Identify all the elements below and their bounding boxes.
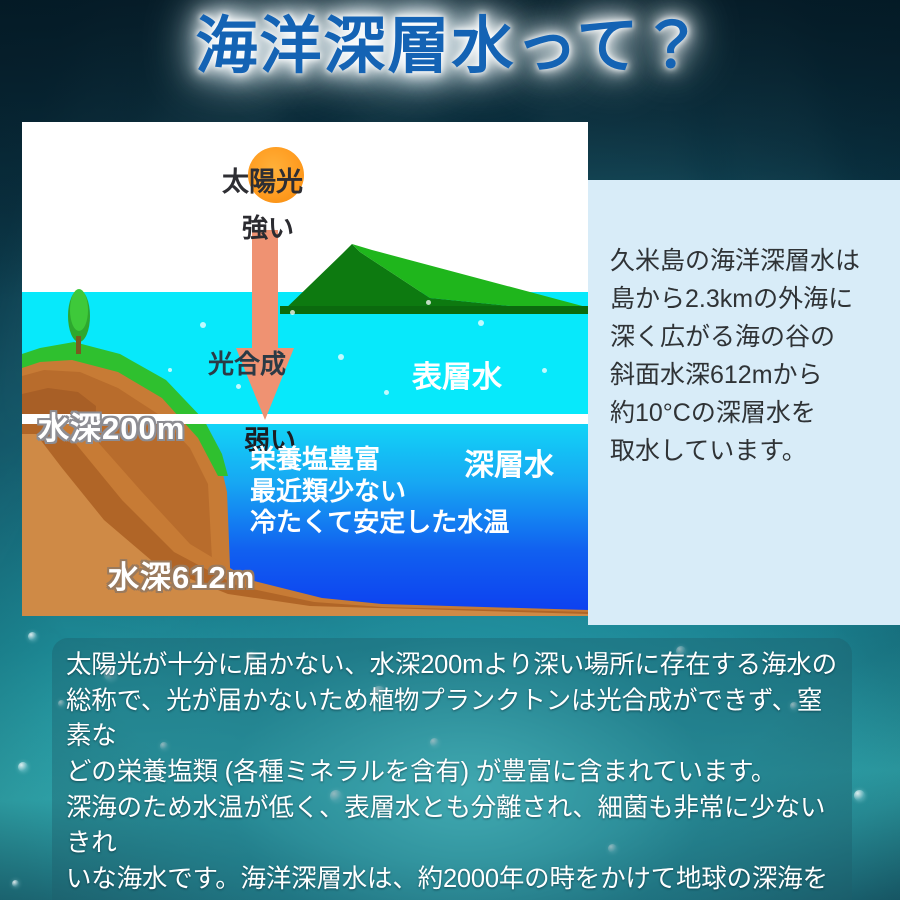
bottom-description-text: 太陽光が十分に届かない、水深200mより深い場所に存在する海水の 総称で、光が届… bbox=[66, 648, 838, 900]
deep-note-line: 最近類少ない bbox=[250, 476, 509, 508]
sun-label: 太陽光 bbox=[222, 160, 303, 199]
surface-water-label: 表層水 bbox=[412, 352, 502, 396]
side-info-panel: 久米島の海洋深層水は 島から2.3kmの外海に 深く広がる海の谷の 斜面水深61… bbox=[588, 180, 900, 625]
depth-200m-label: 水深200m bbox=[38, 403, 185, 448]
sunlight-arrow-icon bbox=[234, 230, 296, 420]
water-speck bbox=[384, 390, 389, 395]
bubble-icon bbox=[12, 880, 19, 887]
deep-note-line: 冷たくて安定した水温 bbox=[250, 507, 509, 539]
side-panel-text: 久米島の海洋深層水は 島から2.3kmの外海に 深く広がる海の谷の 斜面水深61… bbox=[610, 242, 860, 470]
strong-label: 強い bbox=[242, 208, 294, 245]
water-speck bbox=[478, 320, 484, 326]
bubble-icon bbox=[18, 762, 28, 772]
water-speck bbox=[426, 300, 431, 305]
depth-612m-label: 水深612m bbox=[108, 552, 255, 597]
deep-note-line: 栄養塩豊富 bbox=[250, 444, 509, 476]
page-title: 海洋深層水って？ bbox=[0, 14, 900, 79]
bubble-icon bbox=[28, 632, 37, 641]
water-speck bbox=[338, 354, 344, 360]
bubble-icon bbox=[854, 790, 865, 801]
deep-water-notes: 栄養塩豊富 最近類少ない 冷たくて安定した水温 bbox=[250, 444, 509, 539]
bottom-description-box: 太陽光が十分に届かない、水深200mより深い場所に存在する海水の 総称で、光が届… bbox=[52, 638, 852, 900]
infographic-poster: 海洋深層水って？ bbox=[0, 0, 900, 900]
photosynthesis-label: 光合成 bbox=[208, 344, 286, 381]
mountain-shape bbox=[280, 242, 588, 314]
ocean-cross-section-diagram: 太陽光 強い 弱い 光合成 表層水 深層水 栄養塩豊富 最近類少ない 冷たくて安… bbox=[22, 122, 588, 616]
water-speck bbox=[542, 368, 547, 373]
